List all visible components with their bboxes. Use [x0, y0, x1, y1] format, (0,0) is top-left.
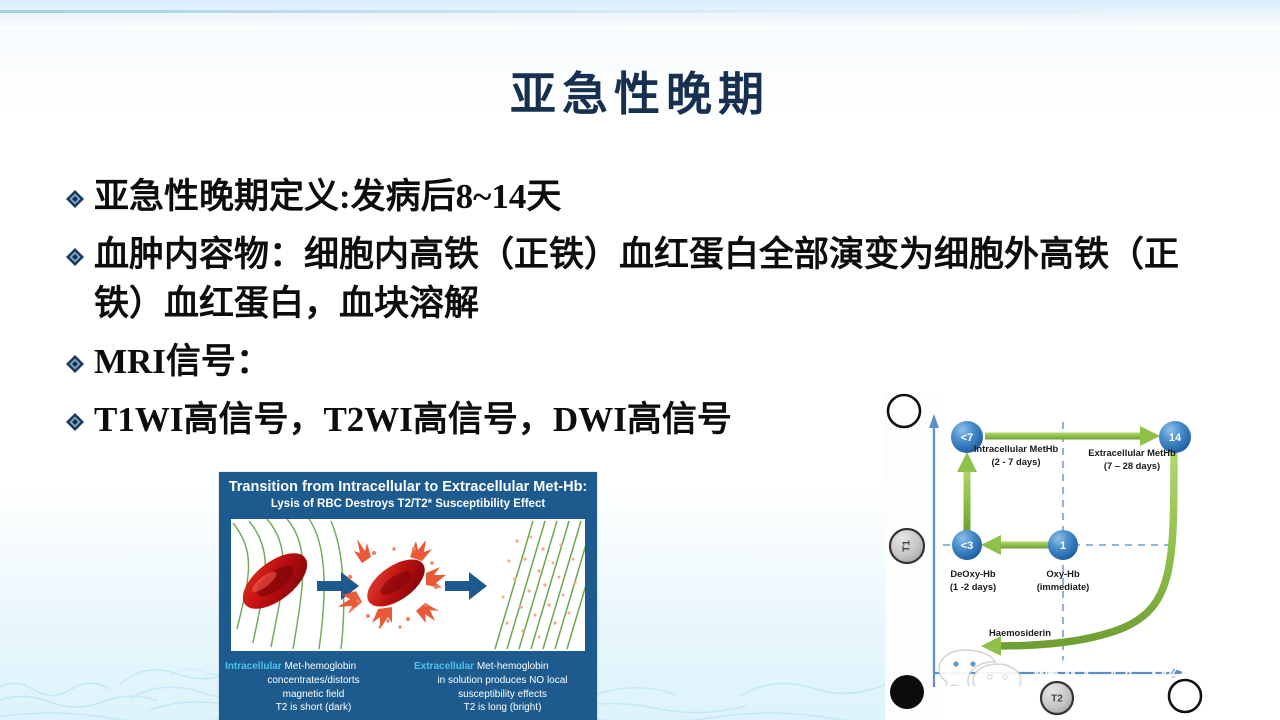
page-title: 亚急性晚期: [0, 58, 1280, 124]
label-extracellular-methb-line2: (7 – 28 days): [1104, 460, 1160, 471]
intact-rbc-icon: [233, 543, 316, 620]
bullet-text: T1WI高信号，T2WI高信号，DWI高信号: [94, 395, 732, 445]
arrow-deoxy-to-intracellular: [957, 452, 977, 533]
caption-line: T2 is long (bright): [408, 701, 597, 715]
label-oxy-hb-line1: Oxy-Hb: [1046, 568, 1080, 579]
axis-t1-label: T1: [902, 540, 913, 552]
label-haemosiderin: Haemosiderin: [989, 627, 1051, 638]
figure-title-line1: Transition from Intracellular to Extrace…: [225, 479, 591, 495]
svg-text:<7: <7: [961, 432, 974, 444]
node-1: 1: [1048, 530, 1078, 560]
caption-line: magnetic field: [219, 688, 408, 702]
figure-title-line2: Lysis of RBC Destroys T2/T2* Susceptibil…: [225, 498, 591, 510]
figure-header: Transition from Intracellular to Extrace…: [219, 472, 597, 514]
caption-line: in solution produces NO local: [408, 674, 597, 688]
figure-hb-evolution-diagram: T1 T2: [885, 392, 1280, 720]
caption-rest: Met-hemoglobin: [282, 661, 356, 672]
svg-text:14: 14: [1169, 432, 1182, 444]
arrow-right-icon: [445, 572, 487, 600]
dark-marker-icon: [890, 675, 924, 709]
caption-highlight: Extracellular: [414, 661, 474, 672]
caption-intracellular: Intracellular Met-hemoglobin concentrate…: [219, 660, 408, 715]
bullet-item-hematoma-contents: 血肿内容物：细胞内高铁（正铁）血红蛋白全部演变为细胞外高铁（正铁）血红蛋白，血块…: [64, 230, 1224, 329]
bullet-text: 血肿内容物：细胞内高铁（正铁）血红蛋白全部演变为细胞外高铁（正铁）血红蛋白，血块…: [94, 230, 1204, 329]
svg-text:1: 1: [1060, 540, 1066, 552]
bright-marker-icon: [888, 395, 920, 427]
axis-arrow-up: [929, 414, 939, 428]
straight-field-lines: [495, 521, 585, 649]
label-intracellular-methb-line1: Intracellular MetHb: [974, 443, 1059, 454]
node-lt3: <3: [952, 530, 982, 560]
top-accent-rule: [0, 10, 1280, 13]
figure-captions: Intracellular Met-hemoglobin concentrate…: [219, 660, 597, 715]
caption-extracellular: Extracellular Met-hemoglobin in solution…: [408, 660, 597, 715]
label-intracellular-methb-line2: (2 - 7 days): [992, 456, 1041, 467]
axis-arrow-right: [1172, 668, 1186, 678]
bullet-text: MRI信号：: [94, 337, 271, 387]
figure-rbc-lysis: Transition from Intracellular to Extrace…: [219, 472, 597, 720]
diamond-bullet-icon: [64, 337, 94, 375]
caption-line: susceptibility effects: [408, 688, 597, 702]
diamond-bullet-icon: [64, 395, 94, 433]
axis-t2-label: T2: [1051, 694, 1063, 705]
bullet-item-mri-signal: MRI信号：: [64, 337, 1224, 387]
bullet-item-definition: 亚急性晚期定义:发病后8~14天: [64, 172, 1224, 222]
label-extracellular-methb-line1: Extracellular MetHb: [1088, 447, 1176, 458]
caption-line: T2 is short (dark): [219, 701, 408, 715]
caption-rest: Met-hemoglobin: [474, 661, 548, 672]
arrow-oxy-to-deoxy: [981, 535, 1059, 555]
svg-text:<3: <3: [961, 540, 974, 552]
label-deoxy-hb-line2: (1 -2 days): [950, 581, 996, 592]
label-deoxy-hb-line1: DeOxy-Hb: [950, 568, 996, 579]
figure-illustration: [231, 519, 585, 651]
bullet-text: 亚急性晚期定义:发病后8~14天: [94, 172, 561, 222]
label-oxy-hb-line2: (immediate): [1037, 581, 1090, 592]
caption-line: concentrates/distorts: [219, 674, 408, 688]
diamond-bullet-icon: [64, 230, 94, 268]
slide-canvas: 亚急性晚期 亚急性晚期定义:发病后8~14天 血肿内容物：细胞内高铁: [0, 0, 1280, 720]
diamond-bullet-icon: [64, 172, 94, 210]
top-gradient-band: [0, 0, 1280, 30]
bright-marker-icon-2: [1169, 680, 1201, 712]
caption-highlight: Intracellular: [225, 661, 282, 672]
curve-extracellular-to-haemosiderin: [981, 454, 1174, 656]
